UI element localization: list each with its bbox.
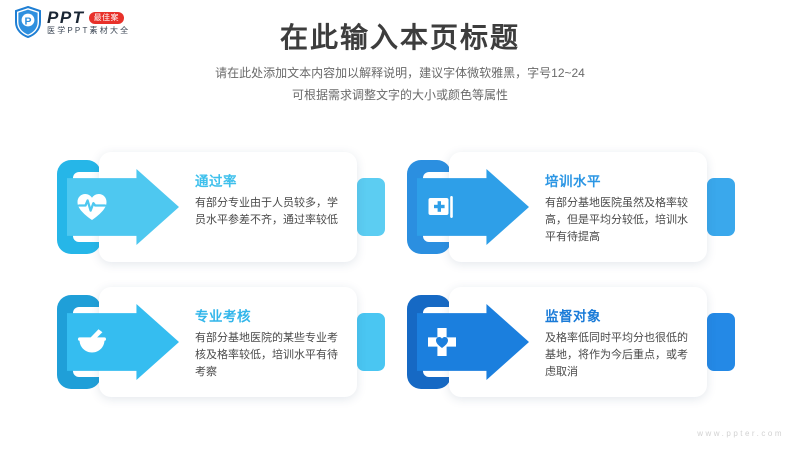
mortar-pestle-icon: [75, 325, 109, 359]
card-grid: 通过率 有部分专业由于人员较多，学员水平参差不齐，通过率较低 培训水平 有部分基…: [55, 152, 745, 400]
card-body: 有部分专业由于人员较多，学员水平参差不齐，通过率较低: [195, 195, 345, 229]
card-text-block: 培训水平 有部分基地医院虽然及格率较高，但是平均分较低，培训水平有待提高: [545, 170, 695, 246]
site-watermark: www.ppter.com: [697, 429, 784, 438]
heart-pulse-icon: [75, 190, 109, 224]
page-subtitle: 请在此处添加文本内容加以解释说明，建议字体微软雅黑，字号12~24 可根据需求调…: [0, 62, 800, 106]
card-text-block: 监督对象 及格率低同时平均分也很低的基地，将作为今后重点，或考虑取消: [545, 305, 695, 381]
subtitle-line-2: 可根据需求调整文字的大小或颜色等属性: [0, 84, 800, 106]
card-side-tab: [357, 313, 385, 371]
info-card[interactable]: 培训水平 有部分基地医院虽然及格率较高，但是平均分较低，培训水平有待提高: [405, 152, 735, 262]
cross-heart-icon: [425, 325, 459, 359]
page-title: 在此输入本页标题: [0, 16, 800, 56]
card-text-block: 专业考核 有部分基地医院的某些专业考核及格率较低，培训水平有待考察: [195, 305, 345, 381]
subtitle-line-1: 请在此处添加文本内容加以解释说明，建议字体微软雅黑，字号12~24: [0, 62, 800, 84]
card-body: 有部分基地医院的某些专业考核及格率较低，培训水平有待考察: [195, 330, 345, 381]
hospital-flag-icon: [425, 190, 459, 224]
card-side-tab: [707, 178, 735, 236]
info-card[interactable]: 通过率 有部分专业由于人员较多，学员水平参差不齐，通过率较低: [55, 152, 385, 262]
card-title: 专业考核: [195, 305, 345, 325]
info-card[interactable]: 监督对象 及格率低同时平均分也很低的基地，将作为今后重点，或考虑取消: [405, 287, 735, 397]
card-side-tab: [357, 178, 385, 236]
card-body: 及格率低同时平均分也很低的基地，将作为今后重点，或考虑取消: [545, 330, 695, 381]
card-body: 有部分基地医院虽然及格率较高，但是平均分较低，培训水平有待提高: [545, 195, 695, 246]
card-title: 通过率: [195, 170, 345, 190]
card-title: 培训水平: [545, 170, 695, 190]
card-title: 监督对象: [545, 305, 695, 325]
card-side-tab: [707, 313, 735, 371]
card-text-block: 通过率 有部分专业由于人员较多，学员水平参差不齐，通过率较低: [195, 170, 345, 229]
info-card[interactable]: 专业考核 有部分基地医院的某些专业考核及格率较低，培训水平有待考察: [55, 287, 385, 397]
